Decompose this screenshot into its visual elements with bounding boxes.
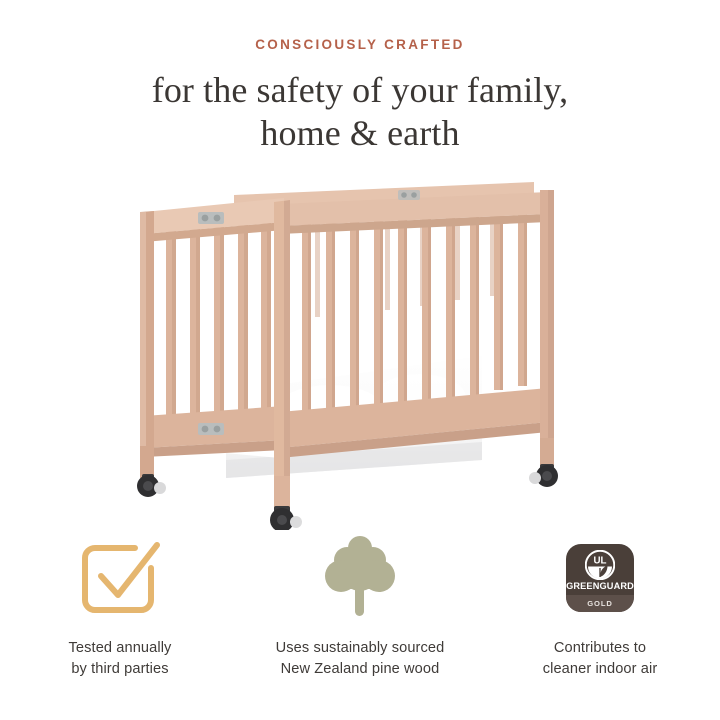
crib-short-end bbox=[140, 198, 284, 458]
tree-icon bbox=[324, 535, 396, 621]
caster-left bbox=[137, 474, 166, 497]
caster-right bbox=[529, 464, 558, 487]
promo-page: CONSCIOUSLY CRAFTED for the safety of yo… bbox=[0, 0, 720, 720]
feature-greenguard-gold: UL GREENGUARD GOLD Contributes to cleane… bbox=[480, 532, 720, 679]
feature-sustainable-wood: Uses sustainably sourced New Zealand pin… bbox=[240, 532, 480, 679]
feature-icon-wrap: UL GREENGUARD GOLD bbox=[566, 532, 634, 624]
ul-mark-icon: UL bbox=[585, 550, 615, 580]
eyebrow-text: CONSCIOUSLY CRAFTED bbox=[0, 38, 720, 52]
feature-icon-wrap bbox=[77, 532, 163, 624]
feature-tested-annually: Tested annually by third parties bbox=[0, 532, 240, 679]
feature-caption: Contributes to cleaner indoor air bbox=[543, 638, 658, 679]
feature-icon-wrap bbox=[324, 532, 396, 624]
product-image bbox=[0, 160, 720, 530]
feature-caption: Tested annually by third parties bbox=[69, 638, 172, 679]
checkbox-check-icon bbox=[77, 538, 163, 618]
headline-line-1: for the safety of your family, bbox=[0, 69, 720, 113]
feature-caption-line-1: Contributes to bbox=[543, 638, 658, 659]
header: CONSCIOUSLY CRAFTED for the safety of yo… bbox=[0, 38, 720, 156]
greenguard-tier-label: GOLD bbox=[587, 600, 613, 608]
feature-caption-line-2: by third parties bbox=[69, 659, 172, 680]
feature-caption-line-2: New Zealand pine wood bbox=[276, 659, 445, 680]
greenguard-label: GREENGUARD bbox=[566, 582, 634, 591]
page-title: for the safety of your family, home & ea… bbox=[0, 69, 720, 157]
greenguard-tier-strip: GOLD bbox=[566, 595, 634, 612]
feature-caption-line-1: Tested annually bbox=[69, 638, 172, 659]
mini-crib-illustration bbox=[130, 160, 590, 530]
greenguard-gold-badge-icon: UL GREENGUARD GOLD bbox=[566, 544, 634, 612]
feature-row: Tested annually by third parties bbox=[0, 532, 720, 679]
crib-long-side bbox=[280, 190, 554, 458]
feature-caption: Uses sustainably sourced New Zealand pin… bbox=[276, 638, 445, 679]
crib-casters bbox=[137, 464, 558, 530]
feature-caption-line-1: Uses sustainably sourced bbox=[276, 638, 445, 659]
feature-caption-line-2: cleaner indoor air bbox=[543, 659, 658, 680]
crib-front-corner-post bbox=[274, 200, 290, 482]
headline-line-2: home & earth bbox=[0, 112, 720, 156]
crib-body bbox=[137, 182, 558, 530]
caster-front bbox=[270, 506, 302, 530]
svg-text:UL: UL bbox=[594, 556, 607, 567]
